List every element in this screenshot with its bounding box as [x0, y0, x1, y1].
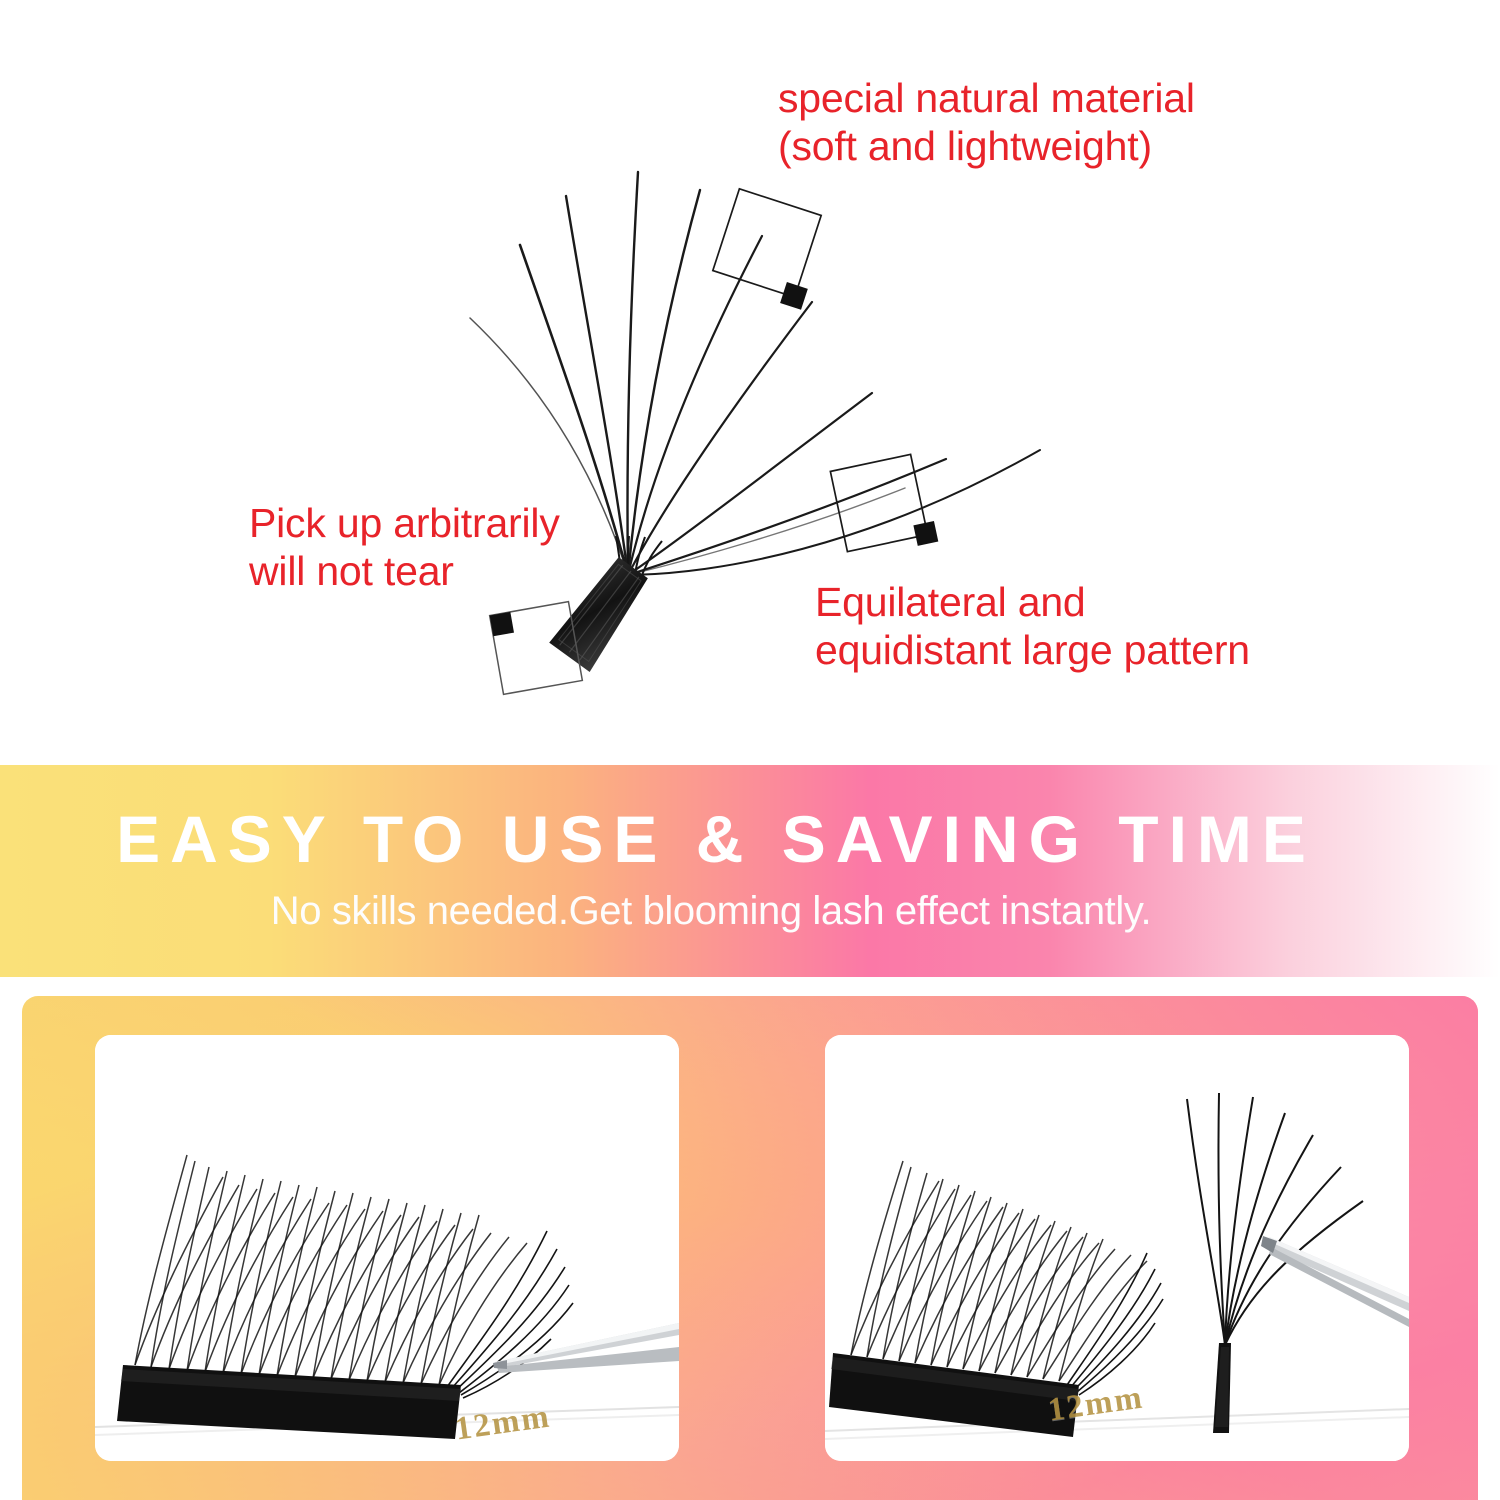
- lash-fan-diagram: [0, 0, 1500, 765]
- product-photo-panel: [22, 996, 1478, 1500]
- banner-title: EASY TO USE & SAVING TIME: [0, 801, 1500, 877]
- photo-card-lash-tray: [95, 1035, 679, 1461]
- headline-banner: EASY TO USE & SAVING TIME No skills need…: [0, 765, 1500, 977]
- banner-subtitle: No skills needed.Get blooming lash effec…: [0, 889, 1500, 934]
- callout-special-natural-material: special natural material (soft and light…: [778, 74, 1195, 171]
- callout-equilateral-pattern: Equilateral and equidistant large patter…: [815, 578, 1250, 675]
- photo-lash-tray-tweezer: [95, 1035, 679, 1461]
- measure-marker-icon: [710, 189, 831, 310]
- callout-pick-up-arbitrarily: Pick up arbitrarily will not tear: [249, 499, 560, 596]
- hero-illustration-section: special natural material (soft and light…: [0, 0, 1500, 765]
